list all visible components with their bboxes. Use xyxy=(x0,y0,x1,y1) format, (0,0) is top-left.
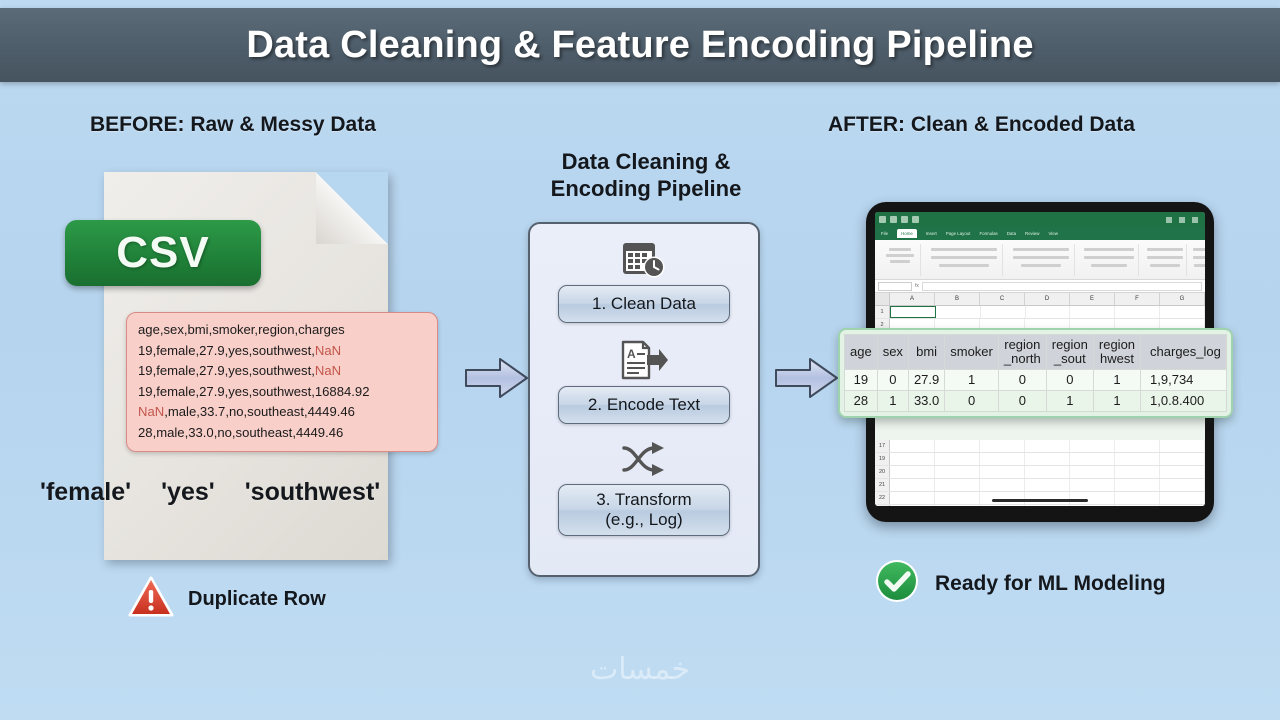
csv-line-1: 19,female,27.9,yes,southwest,NaN xyxy=(138,341,427,362)
excel-title-bar xyxy=(875,212,1205,227)
duplicate-row-label: Duplicate Row xyxy=(188,588,326,611)
cell[interactable] xyxy=(1160,505,1205,506)
categorical-label-yes: 'yes' xyxy=(161,478,215,507)
cell-region-hwest: 1 xyxy=(1093,391,1140,412)
excel-ribbon xyxy=(875,240,1205,280)
home-indicator xyxy=(992,499,1088,502)
cell[interactable] xyxy=(1115,479,1160,491)
csv-line-4: NaN,male,33.7,no,southeast,4449.46 xyxy=(138,402,427,423)
categorical-value-labels: 'female' 'yes' 'southwest' xyxy=(40,478,510,507)
csv-line-text: 19,female,27.9,yes,southwest, xyxy=(138,363,315,378)
table-row: 19 0 27.9 1 0 0 1 1,9,734 xyxy=(845,370,1227,391)
row-header[interactable]: 23 xyxy=(875,505,890,506)
tab-review[interactable]: Review xyxy=(1025,231,1039,236)
tab-formulas[interactable]: Formulas xyxy=(979,231,997,236)
cell[interactable] xyxy=(935,505,980,506)
column-header-g[interactable]: G xyxy=(1160,293,1205,305)
cell[interactable] xyxy=(1070,492,1115,504)
cell[interactable] xyxy=(935,453,980,465)
cell[interactable] xyxy=(1115,505,1160,506)
cell[interactable] xyxy=(1070,306,1115,318)
cell[interactable] xyxy=(1160,466,1205,478)
csv-line-text: ,male,33.7,no,southeast,4449.46 xyxy=(164,404,355,419)
pipeline-title: Data Cleaning & Encoding Pipeline xyxy=(446,148,846,202)
cell-bmi: 27.9 xyxy=(908,370,944,391)
row-header[interactable]: 19 xyxy=(875,453,890,465)
calendar-clock-icon xyxy=(621,236,667,282)
ribbon-group-alignment[interactable] xyxy=(1007,244,1075,276)
col-smoker: smoker xyxy=(945,335,999,370)
cell[interactable] xyxy=(890,306,936,318)
name-box[interactable] xyxy=(878,282,912,291)
cell-region-hwest: 1 xyxy=(1093,370,1140,391)
col-region-north: region _north xyxy=(998,335,1046,370)
redo-icon[interactable] xyxy=(901,216,908,223)
table-row[interactable]: 20 xyxy=(875,466,1205,479)
cell-smoker: 1 xyxy=(945,370,999,391)
tab-data[interactable]: Data xyxy=(1007,231,1016,236)
col-charges-log: charges_log xyxy=(1141,335,1227,370)
csv-line-0: age,sex,bmi,smoker,region,charges xyxy=(138,320,427,341)
infographic-canvas: Data Cleaning & Feature Encoding Pipelin… xyxy=(0,0,1280,720)
categorical-label-southwest: 'southwest' xyxy=(245,478,381,507)
cell[interactable] xyxy=(935,479,980,491)
cell-sex: 1 xyxy=(877,391,908,412)
cell[interactable] xyxy=(980,453,1025,465)
row-header[interactable]: 17 xyxy=(875,440,890,452)
close-icon[interactable] xyxy=(1192,217,1198,223)
cell-age: 28 xyxy=(845,391,878,412)
pipeline-step-3[interactable]: 3. Transform (e.g., Log) xyxy=(530,436,758,536)
csv-line-text: age,sex,bmi,smoker,region,charges xyxy=(138,322,345,337)
tab-file[interactable]: File xyxy=(881,231,888,236)
cell[interactable] xyxy=(890,479,935,491)
ribbon-group-font[interactable] xyxy=(925,244,1003,276)
cell[interactable] xyxy=(1025,466,1070,478)
raw-csv-text-block: age,sex,bmi,smoker,region,charges 19,fem… xyxy=(126,312,438,452)
save-icon[interactable] xyxy=(879,216,886,223)
cell-region-north: 0 xyxy=(998,370,1046,391)
nan-token: NaN xyxy=(138,404,164,419)
select-all-corner[interactable] xyxy=(875,293,890,305)
duplicate-row-warning: Duplicate Row xyxy=(128,576,326,623)
table-row[interactable]: 1 xyxy=(875,306,1205,319)
step-2-button[interactable]: 2. Encode Text xyxy=(558,386,730,424)
csv-badge-label: CSV xyxy=(116,228,209,278)
cell[interactable] xyxy=(936,306,981,318)
cell-charges-log: 1,0.8.400 xyxy=(1141,391,1227,412)
column-header-a[interactable]: A xyxy=(890,293,935,305)
cell[interactable] xyxy=(935,466,980,478)
table-row: 28 1 33.0 0 0 1 1 1,0.8.400 xyxy=(845,391,1227,412)
document-arrow-icon: A xyxy=(619,337,669,383)
step-3-button[interactable]: 3. Transform (e.g., Log) xyxy=(558,484,730,536)
cell[interactable] xyxy=(1025,453,1070,465)
cell[interactable] xyxy=(980,440,1025,452)
cell[interactable] xyxy=(1160,453,1205,465)
cell[interactable] xyxy=(1025,479,1070,491)
nan-token: NaN xyxy=(315,343,341,358)
categorical-label-female: 'female' xyxy=(40,478,131,507)
minimize-icon[interactable] xyxy=(1166,217,1172,223)
page-title: Data Cleaning & Feature Encoding Pipelin… xyxy=(246,24,1033,67)
cell-age: 19 xyxy=(845,370,878,391)
tab-view[interactable]: View xyxy=(1048,231,1057,236)
pipeline-step-2[interactable]: A 2. Encode Text xyxy=(530,337,758,424)
clean-encoded-table-card: age sex bmi smoker region _north region … xyxy=(838,328,1233,418)
cell[interactable] xyxy=(935,440,980,452)
step-1-button[interactable]: 1. Clean Data xyxy=(558,285,730,323)
page-title-bar: Data Cleaning & Feature Encoding Pipelin… xyxy=(0,8,1280,82)
cell[interactable] xyxy=(890,440,935,452)
csv-line-text: 19,female,27.9,yes,southwest,16884.92 xyxy=(138,384,369,399)
cell[interactable] xyxy=(1115,440,1160,452)
cell[interactable] xyxy=(1115,453,1160,465)
cell[interactable] xyxy=(1070,505,1115,506)
tab-insert[interactable]: Insert xyxy=(926,231,937,236)
cell[interactable] xyxy=(1070,479,1115,491)
csv-line-text: 28,male,33.0,no,southeast,4449.46 xyxy=(138,425,343,440)
undo-icon[interactable] xyxy=(890,216,897,223)
cell[interactable] xyxy=(935,492,980,504)
csv-line-3: 19,female,27.9,yes,southwest,16884.92 xyxy=(138,382,427,403)
excel-ribbon-tabs: File Home Insert Page Layout Formulas Da… xyxy=(875,227,1205,240)
cell[interactable] xyxy=(890,492,935,504)
cell[interactable] xyxy=(980,492,1025,504)
right-arrow-icon xyxy=(464,354,530,402)
row-header[interactable]: 21 xyxy=(875,479,890,491)
cell-smoker: 0 xyxy=(945,391,999,412)
cell[interactable] xyxy=(1025,492,1070,504)
cell-region-sout: 0 xyxy=(1046,370,1093,391)
cell-region-north: 0 xyxy=(998,391,1046,412)
watermark: خمسات xyxy=(0,652,1280,687)
col-region-hwest: region hwest xyxy=(1093,335,1140,370)
svg-text:A: A xyxy=(627,347,636,361)
row-header[interactable]: 20 xyxy=(875,466,890,478)
ribbon-group-clipboard[interactable] xyxy=(879,244,921,276)
cell[interactable] xyxy=(1115,492,1160,504)
shuffle-icon xyxy=(620,436,668,482)
after-section-heading: AFTER: Clean & Encoded Data xyxy=(828,113,1135,137)
column-header-d[interactable]: D xyxy=(1025,293,1070,305)
row-header[interactable]: 22 xyxy=(875,492,890,504)
col-region-sout: region _sout xyxy=(1046,335,1093,370)
tab-home[interactable]: Home xyxy=(897,229,917,238)
clean-encoded-table: age sex bmi smoker region _north region … xyxy=(844,334,1227,412)
col-age: age xyxy=(845,335,878,370)
table-row[interactable]: 23 xyxy=(875,505,1205,506)
csv-line-2: 19,female,27.9,yes,southwest,NaN xyxy=(138,361,427,382)
fx-icon: fx xyxy=(915,283,919,289)
cell[interactable] xyxy=(1160,479,1205,491)
cell[interactable] xyxy=(890,505,935,506)
cell[interactable] xyxy=(1070,466,1115,478)
cell[interactable] xyxy=(1070,440,1115,452)
cell-region-sout: 1 xyxy=(1046,391,1093,412)
cell[interactable] xyxy=(1160,306,1205,318)
maximize-icon[interactable] xyxy=(1179,217,1185,223)
excel-column-headers: A B C D E F G xyxy=(875,293,1205,306)
warning-triangle-icon xyxy=(128,576,174,623)
row-header[interactable]: 1 xyxy=(875,306,890,318)
pipeline-panel: 1. Clean Data A 2. Encode Text xyxy=(528,222,760,577)
cell[interactable] xyxy=(980,479,1025,491)
column-header-f[interactable]: F xyxy=(1115,293,1160,305)
cell[interactable] xyxy=(1160,492,1205,504)
ribbon-group-cells[interactable] xyxy=(1143,244,1187,276)
cell[interactable] xyxy=(1026,306,1071,318)
cell-charges-log: 1,9,734 xyxy=(1141,370,1227,391)
cell[interactable] xyxy=(1070,453,1115,465)
csv-line-5: 28,male,33.0,no,southeast,4449.46 xyxy=(138,423,427,444)
ready-for-ml-label: Ready for ML Modeling xyxy=(935,572,1166,596)
check-circle-icon xyxy=(874,558,920,609)
ribbon-group-number[interactable] xyxy=(1079,244,1139,276)
table-header-row: age sex bmi smoker region _north region … xyxy=(845,335,1227,370)
nan-token: NaN xyxy=(315,363,341,378)
table-row[interactable]: 19 xyxy=(875,453,1205,466)
cell[interactable] xyxy=(980,505,1025,506)
ribbon-group-editing[interactable] xyxy=(1189,244,1205,276)
customize-toolbar-icon[interactable] xyxy=(912,216,919,223)
tab-page-layout[interactable]: Page Layout xyxy=(946,231,971,236)
cell[interactable] xyxy=(1160,440,1205,452)
csv-file-badge: CSV xyxy=(65,220,261,286)
column-header-b[interactable]: B xyxy=(935,293,980,305)
cell-bmi: 33.0 xyxy=(908,391,944,412)
cell[interactable] xyxy=(890,466,935,478)
formula-input[interactable] xyxy=(922,282,1202,291)
ready-for-ml-badge: Ready for ML Modeling xyxy=(874,558,1166,609)
cell[interactable] xyxy=(1025,440,1070,452)
col-sex: sex xyxy=(877,335,908,370)
pipeline-step-1[interactable]: 1. Clean Data xyxy=(530,236,758,323)
cell[interactable] xyxy=(890,453,935,465)
cell[interactable] xyxy=(981,306,1026,318)
cell[interactable] xyxy=(1115,306,1160,318)
right-arrow-icon xyxy=(774,354,840,402)
page-fold-corner xyxy=(316,172,388,244)
excel-formula-bar: fx xyxy=(875,280,1205,293)
cell[interactable] xyxy=(1025,505,1070,506)
col-bmi: bmi xyxy=(908,335,944,370)
column-header-e[interactable]: E xyxy=(1070,293,1115,305)
table-row[interactable]: 21 xyxy=(875,479,1205,492)
column-header-c[interactable]: C xyxy=(980,293,1025,305)
before-section-heading: BEFORE: Raw & Messy Data xyxy=(90,113,376,137)
table-row[interactable]: 17 xyxy=(875,440,1205,453)
cell[interactable] xyxy=(980,466,1025,478)
cell[interactable] xyxy=(1115,466,1160,478)
csv-line-text: 19,female,27.9,yes,southwest, xyxy=(138,343,315,358)
cell-sex: 0 xyxy=(877,370,908,391)
